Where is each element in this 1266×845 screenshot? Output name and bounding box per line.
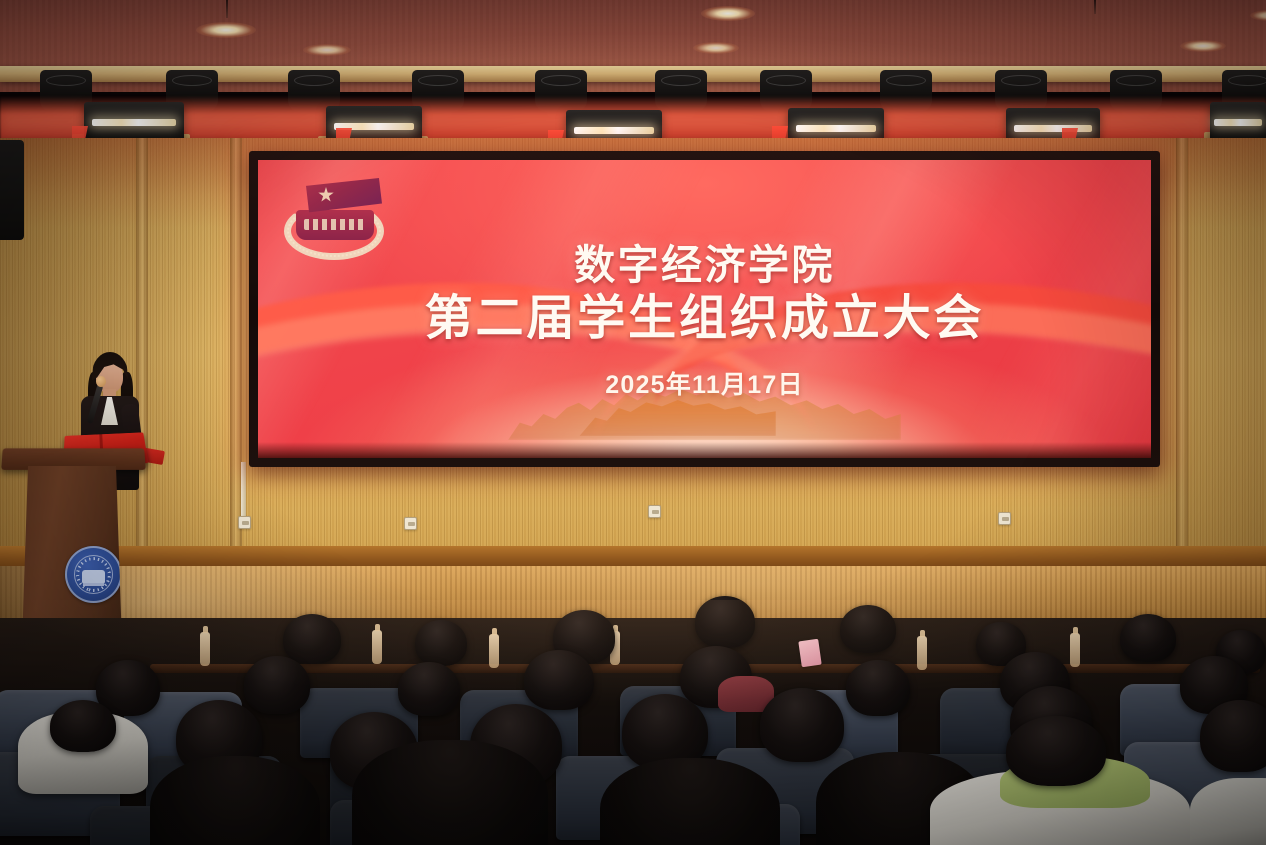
water-bottle bbox=[372, 630, 382, 664]
wall-speaker-icon bbox=[0, 140, 24, 240]
led-screen: 数字经济学院 第二届学生组织成立大会 2025年11月17日 bbox=[258, 160, 1151, 458]
water-bottle bbox=[200, 632, 210, 666]
audience-head bbox=[846, 660, 910, 716]
screen-title-line2: 第二届学生组织成立大会 bbox=[258, 294, 1151, 345]
audience-head bbox=[1200, 700, 1266, 772]
seal-ring-text bbox=[76, 557, 111, 592]
ceiling-cable bbox=[1094, 0, 1096, 14]
audience-head bbox=[760, 688, 844, 762]
screen-title-block: 数字经济学院 第二届学生组织成立大会 bbox=[258, 244, 1151, 345]
screen-title-line1: 数字经济学院 bbox=[258, 244, 1151, 287]
recessed-downlight-icon bbox=[196, 22, 256, 38]
pink-paper bbox=[798, 639, 821, 668]
water-bottle bbox=[1070, 633, 1080, 667]
ceiling-cable bbox=[226, 0, 228, 18]
lamp-icon bbox=[1214, 119, 1261, 126]
screen-bottom-shadow bbox=[258, 442, 1151, 458]
wall-outlet-icon bbox=[238, 516, 251, 529]
wall-outlet-icon bbox=[998, 512, 1011, 525]
lamp-icon bbox=[796, 125, 877, 132]
audience-head bbox=[283, 614, 341, 664]
audience-head bbox=[1006, 716, 1106, 786]
audience-silhouette bbox=[352, 740, 548, 845]
water-bottle bbox=[917, 636, 927, 670]
recessed-downlight-icon bbox=[701, 6, 755, 21]
auditorium-photo: 数字经济学院 第二届学生组织成立大会 2025年11月17日 bbox=[0, 0, 1266, 845]
wall-outlet-icon bbox=[404, 517, 417, 530]
audience-silhouette bbox=[600, 758, 780, 845]
lamp-icon bbox=[92, 119, 176, 126]
audience-head bbox=[244, 656, 310, 714]
recessed-downlight-icon bbox=[693, 42, 739, 54]
university-seal-emblem bbox=[65, 546, 122, 603]
audience-head bbox=[50, 700, 116, 752]
lamp-icon bbox=[1014, 125, 1093, 132]
audience-head bbox=[524, 650, 594, 710]
audience-head bbox=[398, 662, 460, 716]
wall-conduit bbox=[241, 462, 246, 520]
audience-silhouette bbox=[150, 756, 320, 845]
wall-outlet-icon bbox=[648, 505, 661, 518]
wall-baseboard bbox=[0, 546, 1266, 568]
audience-head bbox=[840, 605, 896, 653]
audience-head bbox=[1120, 614, 1176, 662]
screen-date: 2025年11月17日 bbox=[258, 365, 1151, 401]
grey-coat bbox=[1190, 778, 1266, 845]
audience-head bbox=[415, 620, 467, 666]
banner-icon bbox=[296, 210, 374, 240]
recessed-downlight-icon bbox=[303, 44, 351, 56]
lamp-icon bbox=[574, 127, 655, 134]
audience-head bbox=[695, 596, 755, 648]
microphone-head-icon bbox=[96, 376, 106, 387]
recessed-downlight-icon bbox=[1180, 40, 1226, 52]
water-bottle bbox=[489, 634, 499, 668]
